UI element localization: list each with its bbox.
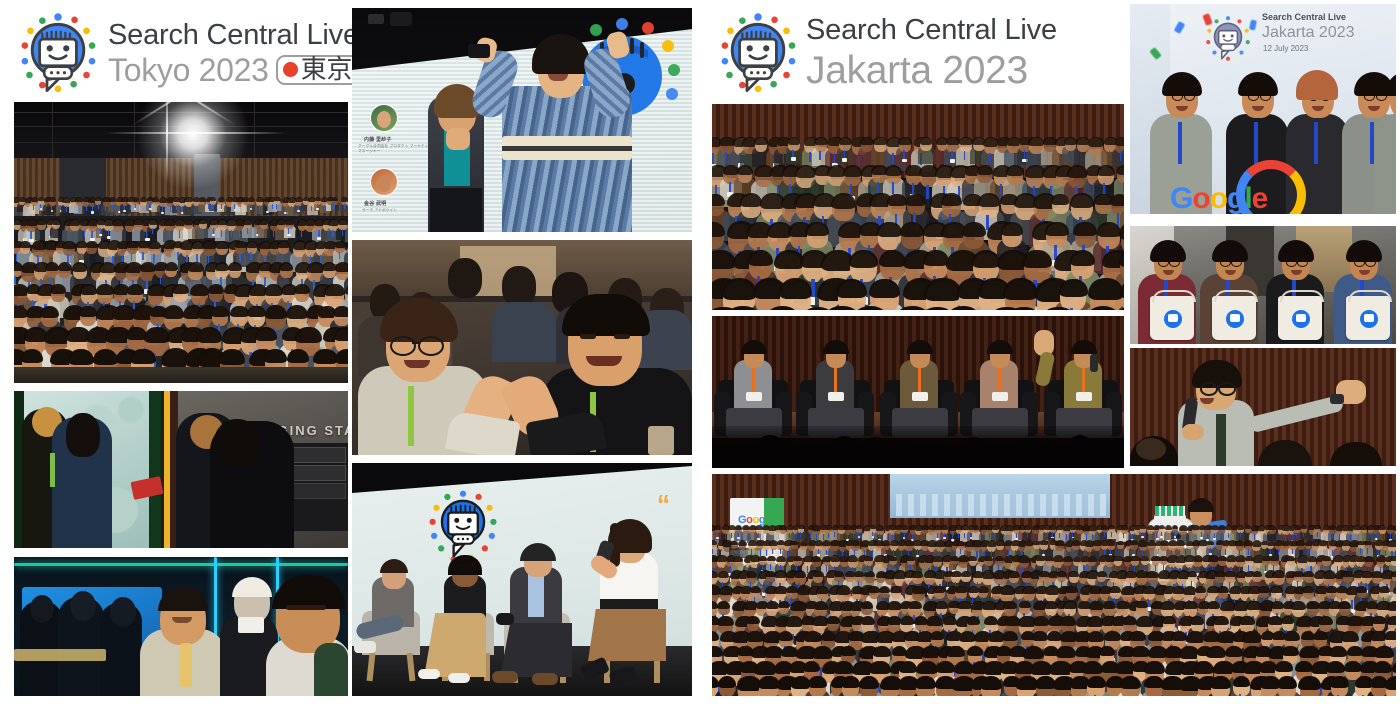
search-central-mascot-icon [12,6,104,98]
japan-locale-label: 東京 [301,57,352,83]
jakarta-title-block: Search Central Live Jakarta 2023 [806,16,1057,90]
japan-locale-badge: 東京 [276,55,361,85]
screen-quote-mark: “ [657,491,670,517]
tokyo-heart-hands-photo [352,240,692,455]
screen-speaker-2-name: 金谷 武明 [364,200,386,207]
backdrop-banner-line2: Jakarta 2023 [1262,24,1355,42]
search-central-mascot-icon [712,6,804,98]
backdrop-mascot-icon [1202,12,1254,66]
backdrop-banner-line1: Search Central Live [1262,12,1346,22]
tokyo-title-line2: Tokyo 2023 [108,54,269,86]
screen-speaker-2-role: サーチ アドボケイト [362,208,397,213]
collage-canvas: Search Central Live Tokyo 2023 東京 [0,0,1400,704]
tokyo-stage-yukata-speaker-photo: 内藤 里紗子 グーグル合同会社 プロダクト マーケティング マネージャー 金谷 … [352,8,692,232]
jakarta-full-group-photo: Google SCL LIVE [712,474,1396,696]
jakarta-title-line2: Jakarta 2023 [806,51,1057,90]
stage-mascot-graphic-icon [424,485,502,565]
tokyo-panel-discussion-photo: “ [352,463,692,696]
screen-speaker-1-name: 内藤 里紗子 [364,136,392,143]
tokyo-audience-group-photo [14,102,348,383]
jakarta-title-line1: Search Central Live [806,16,1057,45]
jakarta-panel-discussion-photo [712,316,1124,468]
tokyo-networking-drinks-photo [14,557,348,696]
jakarta-audience-waving-photo [712,104,1124,310]
backdrop-banner-line3: 12 July 2023 [1263,44,1308,53]
japan-flag-icon [283,62,298,77]
tokyo-title-line2-row: Tokyo 2023 東京 [108,54,361,86]
jakarta-audience-question-photo [1130,348,1396,466]
tokyo-charging-station-photo: CHARGING STATION [14,391,348,548]
screen-speaker-1-role: グーグル合同会社 プロダクト マーケティング マネージャー [358,144,436,154]
tokyo-title-line1: Search Central Live [108,21,361,50]
tokyo-title-block: Search Central Live Tokyo 2023 東京 [108,21,361,86]
jakarta-backdrop-group-photo: Search Central Live Jakarta 2023 12 July… [1130,4,1396,214]
jakarta-tote-bag-photo [1130,226,1396,344]
